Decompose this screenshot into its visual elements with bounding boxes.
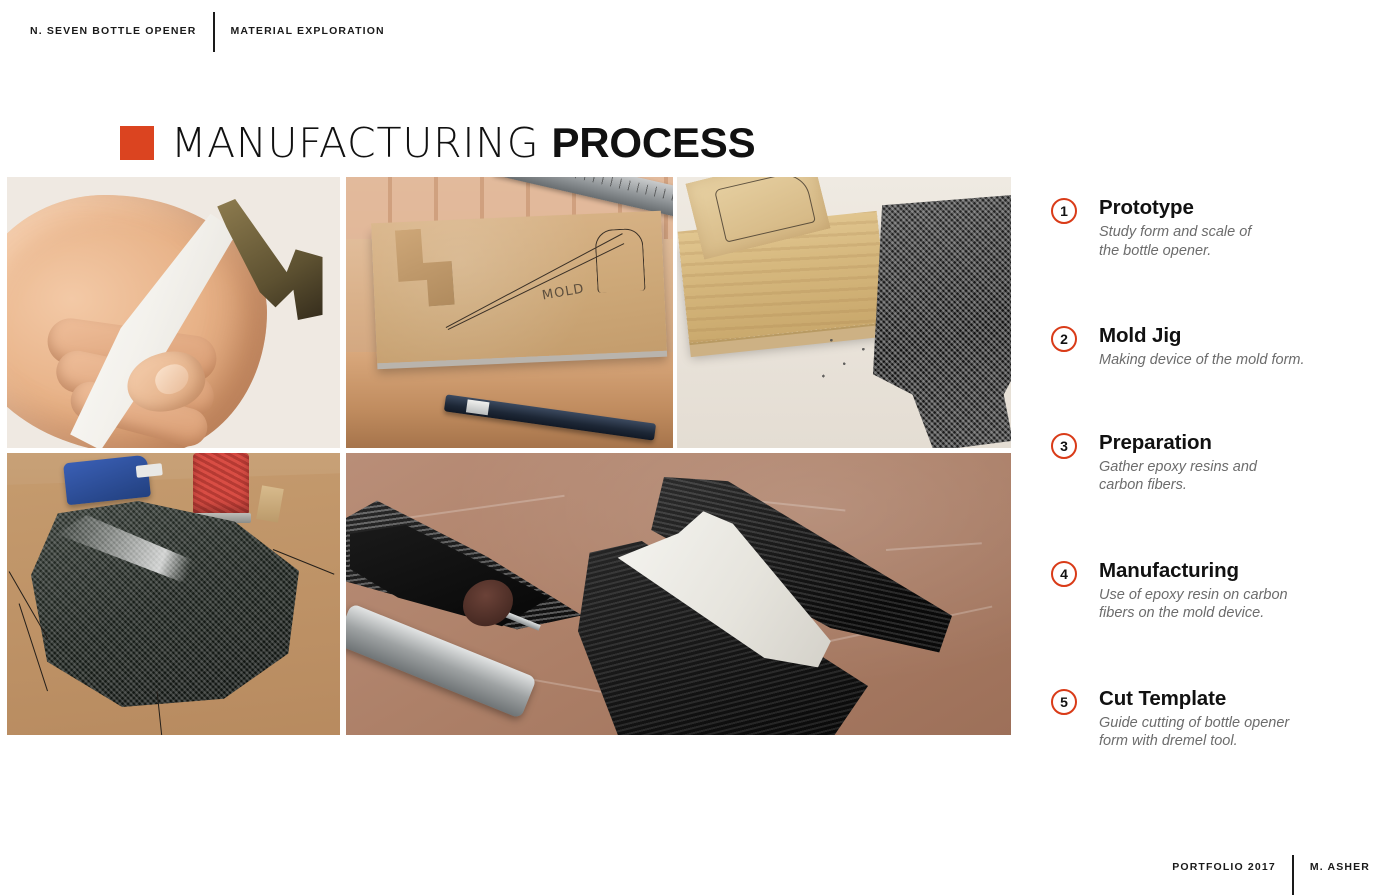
photo-mold-jig-on-board: MOLD (346, 177, 673, 448)
process-steps-list: 1 Prototype Study form and scale of the … (1051, 196, 1381, 751)
photo-finished-parts-with-dremel (346, 453, 1011, 735)
step-item-4: 4 Manufacturing Use of epoxy resin on ca… (1051, 559, 1381, 623)
footer-portfolio-label: PORTFOLIO 2017 (1172, 855, 1292, 873)
page-title-bold: PROCESS (551, 119, 755, 166)
breadcrumb: N. SEVEN BOTTLE OPENER MATERIAL EXPLORAT… (30, 12, 385, 52)
photo-gallery: MOLD (7, 177, 1011, 735)
page-title-light: MANUFACTURING (171, 119, 539, 167)
step-number-badge-5: 5 (1051, 689, 1077, 715)
step-number-badge-1: 1 (1051, 198, 1077, 224)
step-description-3: Gather epoxy resins and carbon fibers. (1099, 458, 1381, 495)
photo-wet-layup-on-mold (7, 453, 340, 735)
step-title-2: Mold Jig (1099, 324, 1381, 348)
step-title-1: Prototype (1099, 196, 1381, 220)
step-description-5: Guide cutting of bottle opener form with… (1099, 714, 1381, 751)
photo-wood-jig-and-carbon-cloth (677, 177, 1011, 448)
step-title-5: Cut Template (1099, 687, 1381, 711)
footer-author-label: M. ASHER (1294, 855, 1370, 873)
photo-prototype-in-hand (7, 177, 340, 448)
step-description-4: Use of epoxy resin on carbon fibers on t… (1099, 586, 1381, 623)
step-number-badge-4: 4 (1051, 561, 1077, 587)
step-number-badge-2: 2 (1051, 326, 1077, 352)
page-title: MANUFACTURING PROCESS (120, 115, 755, 171)
step-number-badge-3: 3 (1051, 433, 1077, 459)
step-title-4: Manufacturing (1099, 559, 1381, 583)
accent-square-icon (120, 126, 154, 160)
breadcrumb-section-label: MATERIAL EXPLORATION (215, 11, 385, 52)
step-item-1: 1 Prototype Study form and scale of the … (1051, 196, 1381, 260)
step-item-2: 2 Mold Jig Making device of the mold for… (1051, 324, 1381, 370)
step-item-3: 3 Preparation Gather epoxy resins and ca… (1051, 431, 1381, 495)
step-description-1: Study form and scale of the bottle opene… (1099, 223, 1381, 260)
breadcrumb-project-label: N. SEVEN BOTTLE OPENER (30, 11, 213, 52)
page-title-text: MANUFACTURING PROCESS (171, 120, 755, 166)
step-description-2: Making device of the mold form. (1099, 351, 1381, 370)
step-item-5: 5 Cut Template Guide cutting of bottle o… (1051, 687, 1381, 751)
step-title-3: Preparation (1099, 431, 1381, 455)
page-footer: PORTFOLIO 2017 M. ASHER (1172, 855, 1370, 895)
